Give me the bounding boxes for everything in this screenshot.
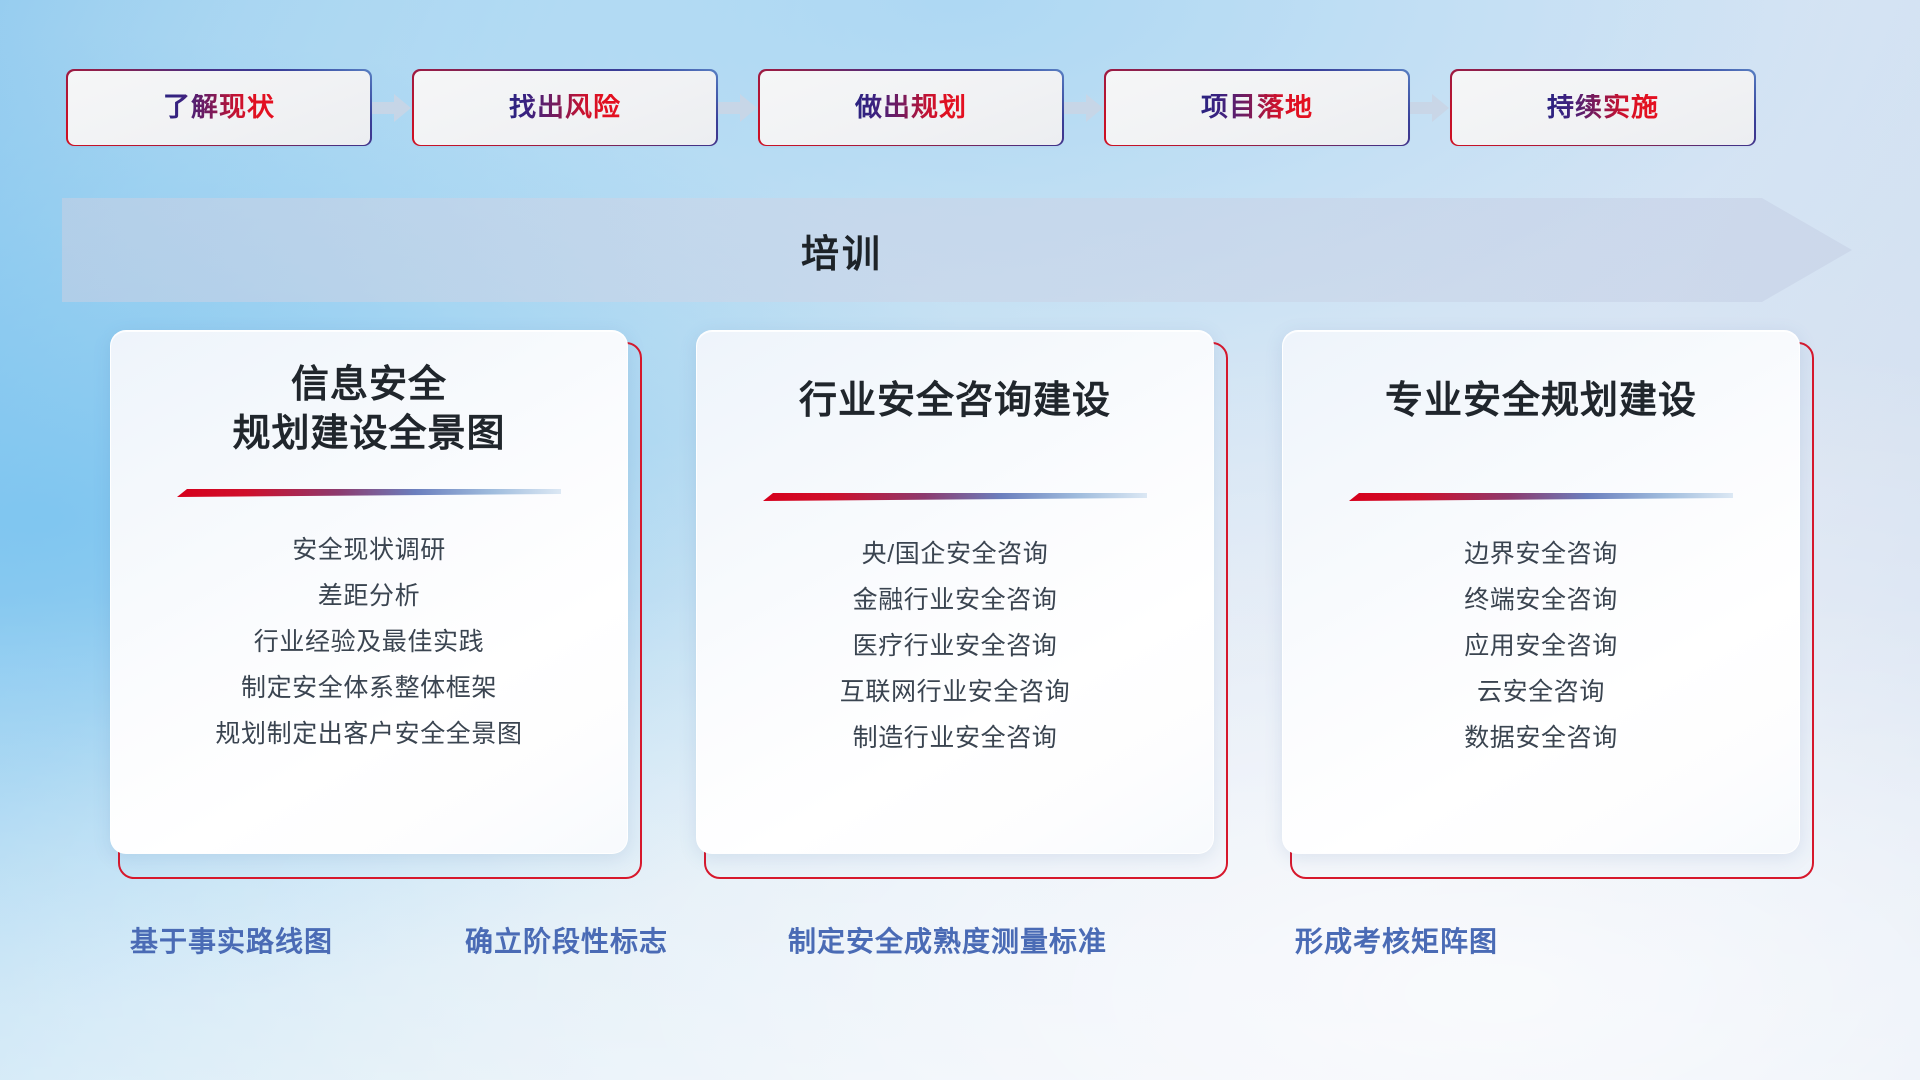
training-banner: 培训 <box>62 198 1852 302</box>
list-item: 数据安全咨询 <box>1464 716 1618 762</box>
list-item: 互联网行业安全咨询 <box>840 670 1070 716</box>
card-3-body: 专业安全规划建设 <box>1282 330 1800 854</box>
step-label-2: 找出风险 <box>509 94 621 121</box>
caption-2: 确立阶段性标志 <box>465 918 668 962</box>
card-1-divider <box>177 488 561 498</box>
card-2-body: 行业安全咨询建设 <box>696 330 1214 854</box>
list-item: 应用安全咨询 <box>1464 624 1618 670</box>
card-1-body: 信息安全 规划建设全景图 <box>110 330 628 854</box>
list-item: 差距分析 <box>318 574 420 620</box>
step-arrow-icon-3 <box>1062 93 1106 123</box>
card-3-divider <box>1349 492 1733 502</box>
card-1-title-line1: 信息安全 <box>111 361 627 410</box>
card-1-list: 安全现状调研 差距分析 行业经验及最佳实践 制定安全体系整体框架 规划制定出客户… <box>111 528 627 758</box>
step-box-1[interactable]: 了解现状 <box>68 71 370 145</box>
step-arrow-icon-2 <box>716 93 760 123</box>
banner-label: 培训 <box>62 198 1622 302</box>
card-1-title-line2: 规划建设全景图 <box>111 410 627 459</box>
captions-row: 基于事实路线图 确立阶段性标志 制定安全成熟度测量标准 形成考核矩阵图 <box>0 918 1920 962</box>
card-1-title: 信息安全 规划建设全景图 <box>111 361 627 460</box>
cards-row: 信息安全 规划建设全景图 <box>0 330 1920 890</box>
card-1[interactable]: 信息安全 规划建设全景图 <box>110 330 638 875</box>
list-item: 安全现状调研 <box>292 528 446 574</box>
card-3-title: 专业安全规划建设 <box>1283 377 1799 426</box>
list-item: 医疗行业安全咨询 <box>853 624 1058 670</box>
step-box-4[interactable]: 项目落地 <box>1106 71 1408 145</box>
caption-4: 形成考核矩阵图 <box>1295 918 1498 962</box>
step-label-5: 持续实施 <box>1547 94 1659 121</box>
list-item: 制造行业安全咨询 <box>853 716 1058 762</box>
card-2-title-line1: 行业安全咨询建设 <box>697 377 1213 426</box>
list-item: 行业经验及最佳实践 <box>254 620 484 666</box>
caption-1: 基于事实路线图 <box>130 918 333 962</box>
list-item: 制定安全体系整体框架 <box>241 666 497 712</box>
list-item: 央/国企安全咨询 <box>862 532 1049 578</box>
card-2[interactable]: 行业安全咨询建设 <box>696 330 1224 875</box>
list-item: 金融行业安全咨询 <box>853 578 1058 624</box>
step-box-3[interactable]: 做出规划 <box>760 71 1062 145</box>
list-item: 终端安全咨询 <box>1464 578 1618 624</box>
list-item: 边界安全咨询 <box>1464 532 1618 578</box>
card-2-list: 央/国企安全咨询 金融行业安全咨询 医疗行业安全咨询 互联网行业安全咨询 制造行… <box>697 532 1213 762</box>
step-box-2[interactable]: 找出风险 <box>414 71 716 145</box>
card-3-list: 边界安全咨询 终端安全咨询 应用安全咨询 云安全咨询 数据安全咨询 <box>1283 532 1799 762</box>
list-item: 云安全咨询 <box>1477 670 1605 716</box>
step-arrow-icon-4 <box>1408 93 1452 123</box>
process-steps-row: 了解现状 找出风险 做出规划 项目落地 持续实施 <box>0 70 1920 145</box>
card-3[interactable]: 专业安全规划建设 <box>1282 330 1810 875</box>
step-label-3: 做出规划 <box>855 94 967 121</box>
step-arrow-icon-1 <box>370 93 414 123</box>
step-label-1: 了解现状 <box>163 94 275 121</box>
list-item: 规划制定出客户安全全景图 <box>215 712 522 758</box>
card-3-title-line1: 专业安全规划建设 <box>1283 377 1799 426</box>
step-box-5[interactable]: 持续实施 <box>1452 71 1754 145</box>
step-label-4: 项目落地 <box>1201 94 1313 121</box>
card-2-divider <box>763 492 1147 502</box>
caption-3: 制定安全成熟度测量标准 <box>788 918 1107 962</box>
card-2-title: 行业安全咨询建设 <box>697 377 1213 426</box>
